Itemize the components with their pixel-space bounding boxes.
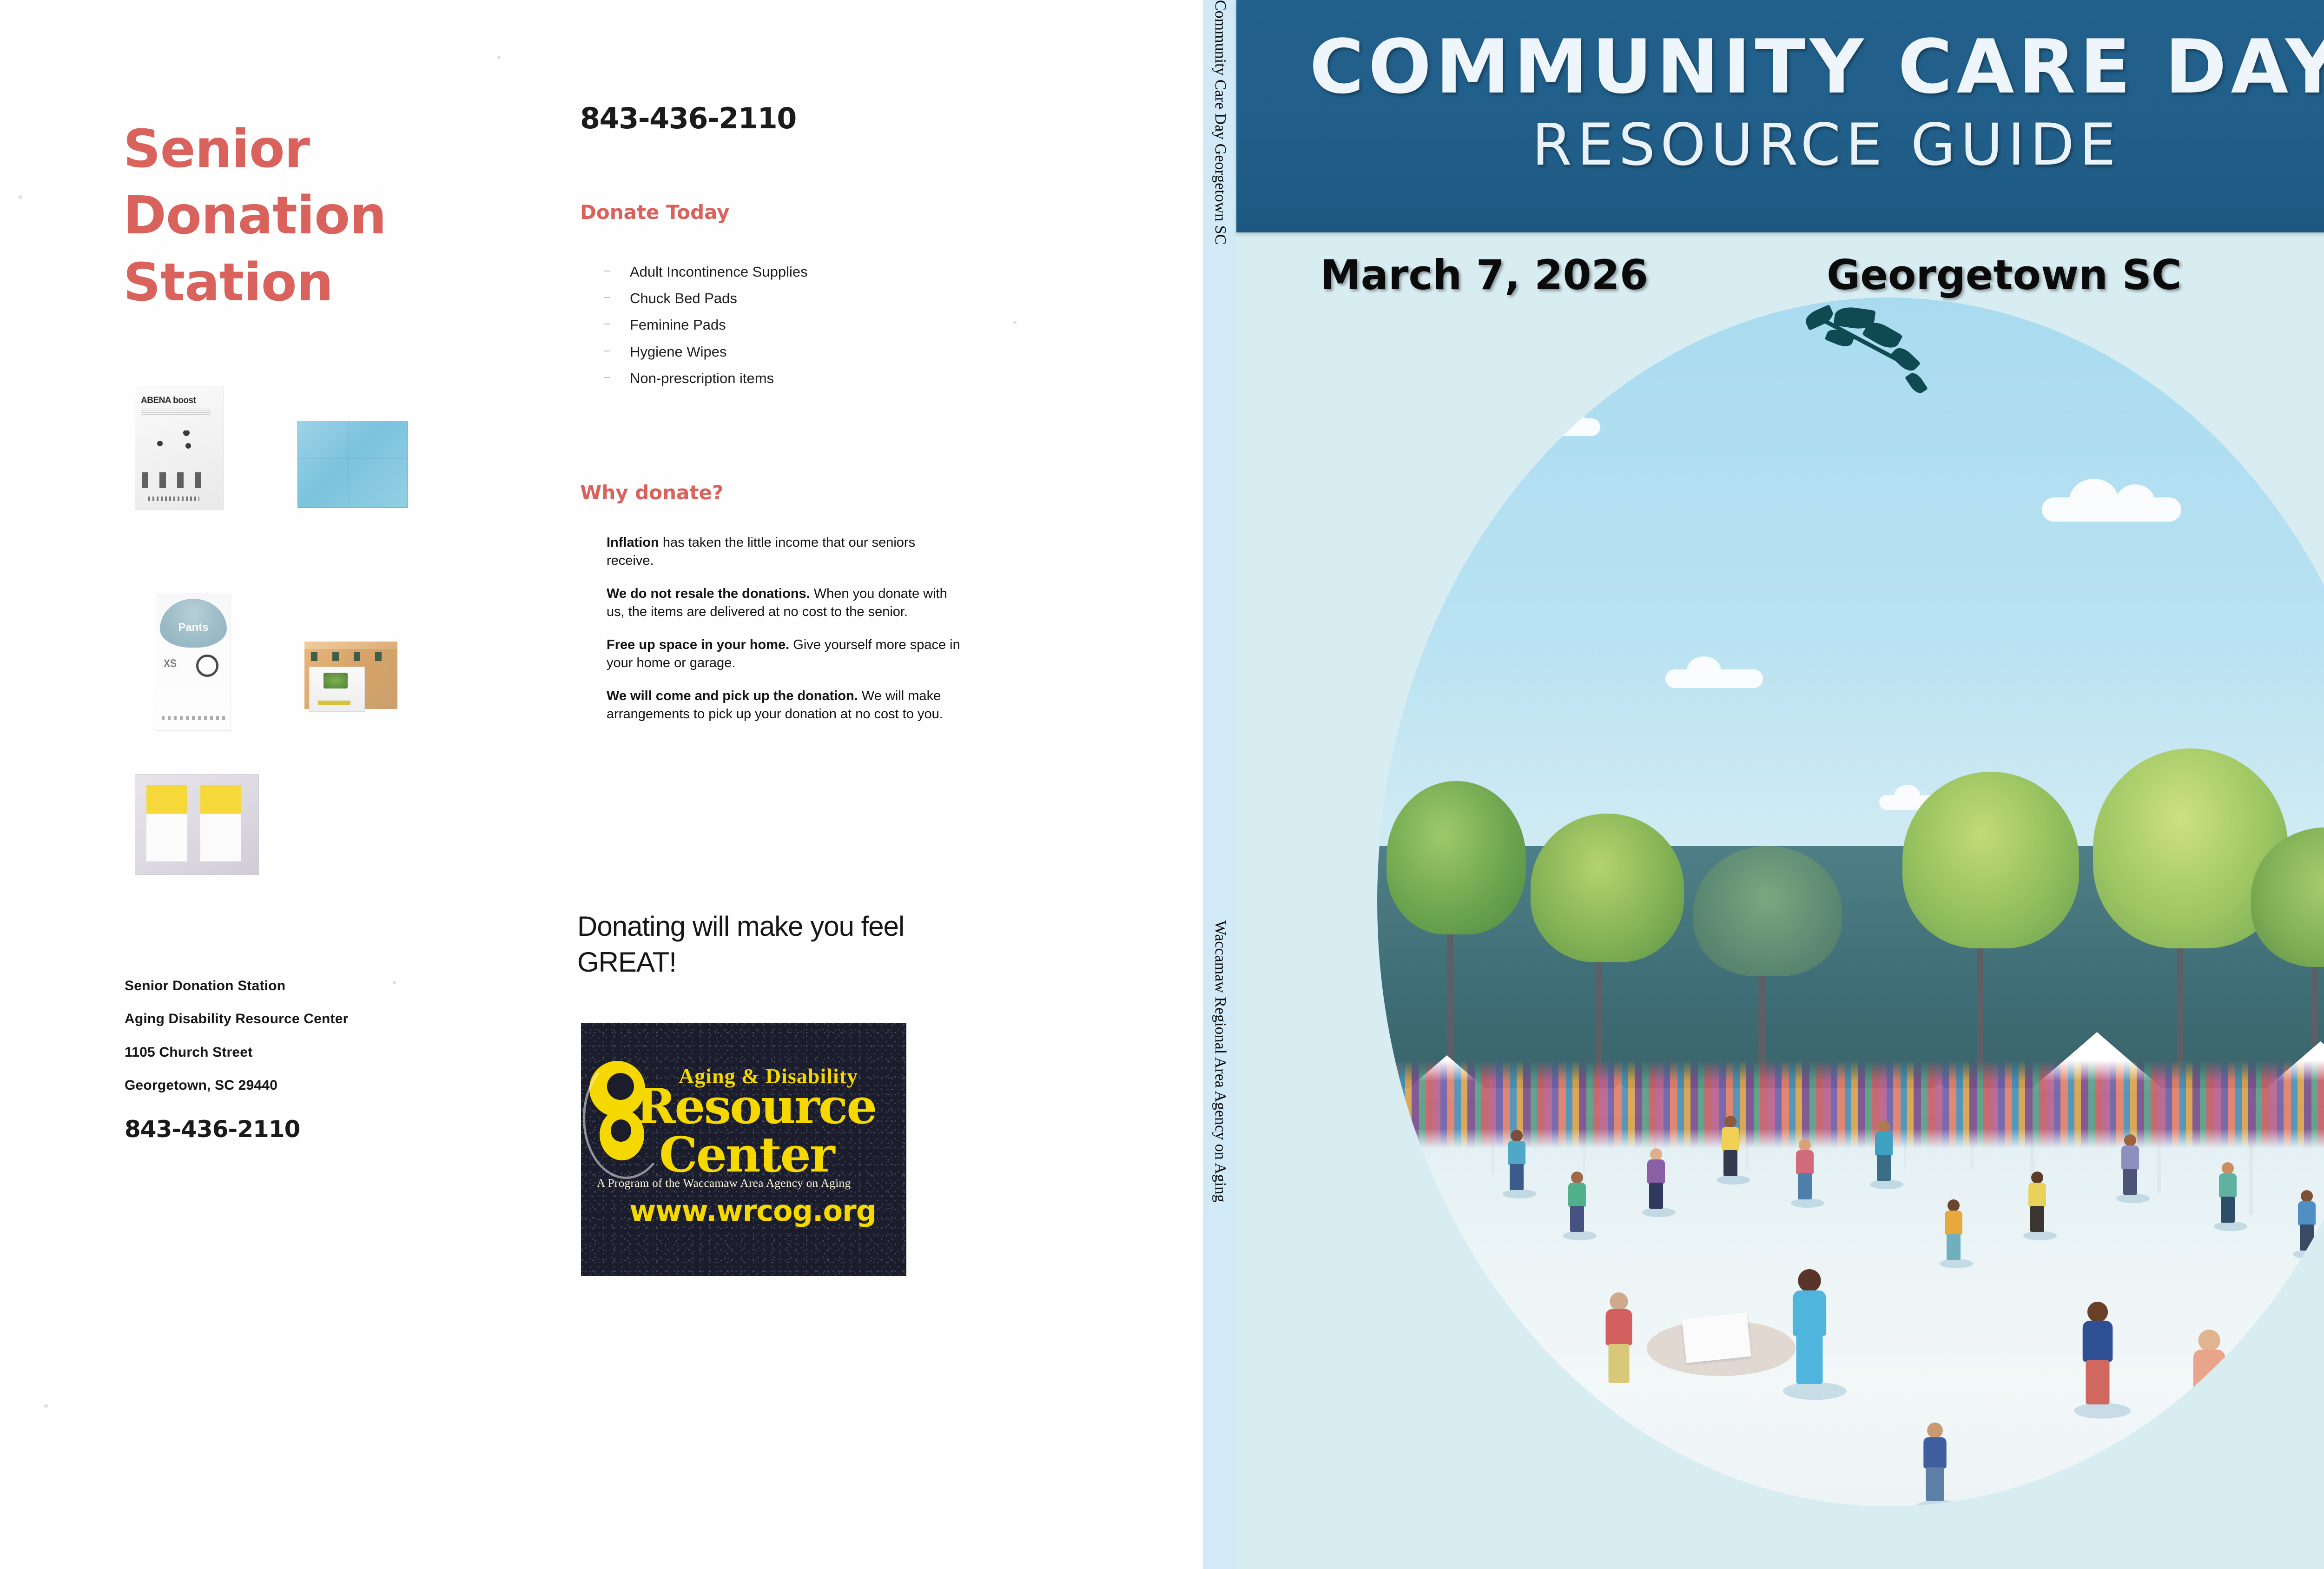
person-legs — [2300, 1225, 2314, 1251]
spine-text-bottom: Waccamaw Regional Area Agency on Aging — [1211, 0, 1229, 1569]
leaf-branch-icon — [1796, 307, 1954, 423]
person-legs — [1531, 1458, 1549, 1492]
list-item: Non-prescription items — [600, 370, 981, 387]
scan-speck — [393, 981, 396, 984]
person-legs — [2197, 1391, 2222, 1438]
why-paragraph-lead: Inflation — [607, 535, 659, 550]
person-legs — [1723, 1150, 1737, 1176]
cover-meta-row: March 7, 2026 Georgetown SC — [1236, 237, 2324, 311]
person-legs — [2030, 1206, 2044, 1232]
scan-speck — [497, 56, 501, 59]
why-paragraph: Free up space in your home. Give yoursel… — [607, 636, 964, 672]
why-paragraph: Inflation has taken the little income th… — [607, 534, 964, 569]
leaf — [1890, 344, 1921, 375]
person-legs — [1609, 1344, 1630, 1383]
why-paragraph-lead: Free up space in your home. — [607, 637, 789, 652]
person-torso — [1923, 1437, 1946, 1469]
person-shadow — [1642, 1208, 1676, 1217]
person-shadow — [1563, 1231, 1597, 1240]
person-torso — [1568, 1183, 1586, 1207]
person-torso — [2298, 1201, 2316, 1225]
person-torso — [2121, 1145, 2139, 1170]
person-legs — [2086, 1360, 2110, 1404]
person-legs — [1947, 1234, 1961, 1260]
resource-guide-cover: Community Care Day Georgetown SC Waccama… — [1203, 0, 2324, 1569]
tree-canopy — [1531, 814, 1684, 962]
person-head — [1532, 1413, 1548, 1429]
person-head — [1799, 1139, 1811, 1151]
person-head — [1798, 1269, 1821, 1292]
person-head — [1948, 1199, 1960, 1212]
carton-label-tabs — [311, 652, 393, 661]
person-shadow — [1522, 1490, 1565, 1503]
person-legs — [1926, 1467, 1944, 1501]
person-head — [1511, 1130, 1523, 1142]
person-torso — [2322, 1267, 2324, 1304]
donate-items-list: Adult Incontinence Supplies Chuck Bed Pa… — [581, 263, 981, 396]
person-shadow — [2023, 1231, 2057, 1240]
why-paragraph-lead: We will come and pick up the donation. — [607, 689, 858, 703]
person-shadow — [2293, 1250, 2324, 1259]
person-legs — [1510, 1164, 1524, 1190]
person-head — [2031, 1172, 2043, 1184]
person-shadow — [2116, 1194, 2150, 1203]
person-torso — [1945, 1211, 1962, 1235]
why-paragraph: We will come and pick up the donation. W… — [607, 687, 964, 723]
logo-line-program-of: A Program of the Waccamaw Area Agency on… — [597, 1177, 851, 1190]
person-shadow — [1791, 1198, 1824, 1208]
donation-tagline: Donating will make you feel GREAT! — [577, 909, 931, 980]
why-donate-heading: Why donate? — [580, 481, 723, 504]
person-torso — [2083, 1321, 2113, 1362]
address-line-street: 1105 Church Street — [125, 1036, 349, 1069]
person-head — [1878, 1120, 1890, 1132]
person-torso — [1796, 1150, 1814, 1174]
person-head — [1724, 1116, 1736, 1128]
person-shadow — [1717, 1175, 1750, 1185]
person-torso — [1793, 1291, 1826, 1337]
tree-canopy — [1902, 772, 2079, 948]
person-torso — [1606, 1309, 1632, 1345]
pants-brand-label: Pants — [160, 621, 227, 634]
tree-canopy — [1386, 781, 1526, 934]
cover-subtitle: RESOURCE GUIDE — [1236, 112, 2324, 179]
cover-title: COMMUNITY CARE DAY — [1236, 23, 2324, 110]
abena-brand-label: ABENA boost — [141, 396, 196, 406]
address-line-org: Senior Donation Station — [125, 969, 349, 1002]
wipe-packet — [146, 785, 187, 861]
person-torso — [2193, 1350, 2225, 1393]
abena-footer-text — [148, 497, 199, 501]
person-shadow — [1503, 1189, 1536, 1198]
why-paragraph: We do not resale the donations. When you… — [607, 585, 964, 621]
list-item: Hygiene Wipes — [600, 343, 981, 360]
person-shadow — [1783, 1382, 1847, 1400]
product-photo-pants: Pants XS — [156, 593, 231, 731]
abena-icons — [148, 430, 209, 458]
address-block: Senior Donation Station Aging Disability… — [125, 969, 349, 1102]
scan-speck — [1013, 321, 1017, 324]
person-legs — [1570, 1206, 1584, 1232]
tree-canopy — [1693, 846, 1842, 976]
person-torso — [1722, 1127, 1739, 1151]
abena-step-icons — [142, 472, 211, 488]
person-torso — [1875, 1132, 1893, 1156]
page-title: Senior Donation Station — [123, 116, 411, 316]
abena-text-lines — [141, 409, 211, 415]
why-donate-body: Inflation has taken the little income th… — [607, 534, 964, 739]
logo-line-center: Center — [659, 1126, 834, 1183]
person-head — [1610, 1292, 1628, 1311]
wipe-packet — [200, 785, 241, 861]
pants-icon — [196, 655, 218, 677]
scan-speck — [44, 1404, 48, 1408]
pants-size-label: XS — [164, 657, 177, 670]
leaf — [1905, 370, 1928, 396]
person-head — [2222, 1162, 2234, 1174]
product-photo-wipes — [135, 774, 259, 875]
address-line-city: Georgetown, SC 29440 — [125, 1069, 349, 1102]
page-title-line-2: Donation — [123, 183, 411, 249]
pants-footer-text — [162, 716, 225, 720]
person-legs — [2221, 1197, 2235, 1223]
why-paragraph-lead: We do not resale the donations. — [607, 586, 810, 601]
pants-label-oval: Pants — [160, 599, 227, 648]
list-item: Feminine Pads — [600, 316, 981, 333]
community-fair-illustration — [1377, 298, 2324, 1506]
event-date: March 7, 2026 — [1320, 251, 1648, 299]
paperwork — [1682, 1312, 1751, 1363]
person-torso — [2219, 1173, 2237, 1198]
person-head — [1927, 1423, 1943, 1438]
person-head — [2301, 1190, 2313, 1202]
list-item: Adult Incontinence Supplies — [600, 263, 981, 280]
person-head — [2124, 1134, 2136, 1146]
person-shadow — [2214, 1222, 2247, 1231]
page-title-line-3: Station — [123, 250, 411, 316]
person-head — [1650, 1148, 1662, 1160]
person-head — [2087, 1302, 2108, 1322]
address-line-center: Aging Disability Resource Center — [125, 1002, 349, 1035]
person-shadow — [1940, 1259, 1973, 1268]
person-shadow — [2074, 1403, 2131, 1419]
person-torso — [1528, 1428, 1551, 1459]
headline-phone: 843-436-2110 — [580, 101, 796, 135]
person-shadow — [1870, 1180, 1903, 1189]
carton-package — [309, 667, 365, 712]
person-torso — [1508, 1141, 1525, 1165]
person-legs — [1796, 1335, 1823, 1384]
person-legs — [2123, 1169, 2137, 1195]
scanned-brochure-left: Senior Donation Station ABENA boost Pant… — [0, 0, 1203, 1569]
person-legs — [1877, 1155, 1891, 1181]
donate-today-heading: Donate Today — [580, 201, 730, 224]
person-legs — [1649, 1183, 1663, 1209]
person-torso — [1647, 1159, 1665, 1184]
cover-banner: COMMUNITY CARE DAY RESOURCE GUIDE — [1236, 0, 2324, 232]
person-head — [2199, 1330, 2220, 1351]
page-title-line-1: Senior — [123, 116, 411, 183]
person-torso — [2028, 1183, 2046, 1207]
list-item: Chuck Bed Pads — [600, 290, 981, 307]
product-photo-abena-boost: ABENA boost — [135, 386, 224, 510]
product-photo-carton — [304, 642, 397, 709]
person-legs — [1798, 1173, 1812, 1199]
brochure-scan-page: Senior Donation Station ABENA boost Pant… — [0, 0, 2324, 1569]
cloud-icon — [1517, 418, 1600, 436]
address-phone: 843-436-2110 — [125, 1116, 300, 1143]
logo-website-url: www.wrcog.org — [629, 1194, 876, 1228]
scan-speck — [19, 195, 22, 199]
product-photo-bed-pad — [297, 421, 408, 508]
cloud-icon — [1665, 669, 1763, 688]
event-location: Georgetown SC — [1827, 251, 2182, 299]
person-shadow — [2184, 1437, 2245, 1453]
adrc-logo: Aging & Disability Resource Center A Pro… — [581, 1023, 906, 1276]
cloud-icon — [2042, 497, 2181, 522]
person-head — [1571, 1172, 1583, 1184]
